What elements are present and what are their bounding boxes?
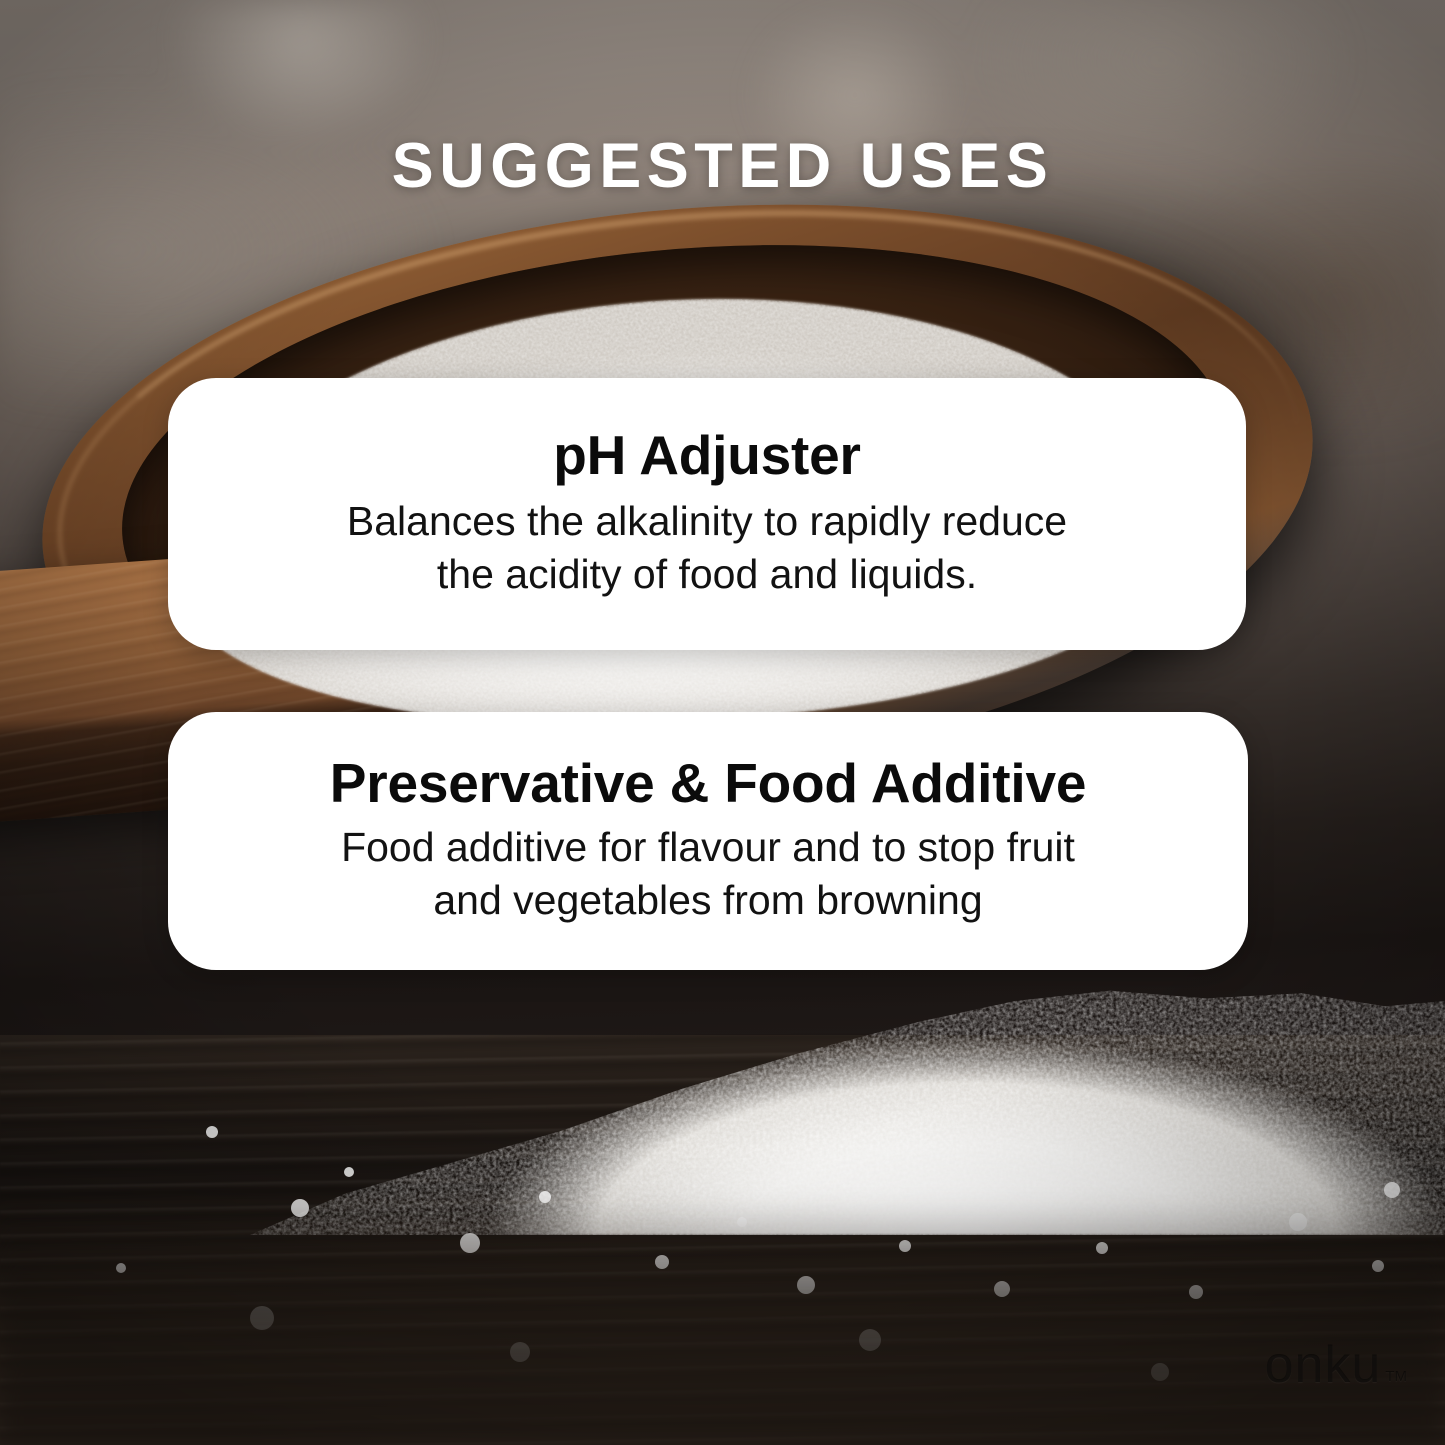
suggested-uses-graphic: SUGGESTED USES pH Adjuster Balances the … — [0, 0, 1445, 1445]
card-title-ph-adjuster: pH Adjuster — [553, 427, 860, 485]
brand-watermark: onku TM — [1265, 1335, 1407, 1395]
card-body-preservative-food-additive: Food additive for flavour and to stop fr… — [341, 821, 1075, 928]
brand-watermark-text: onku — [1265, 1335, 1382, 1395]
content-layer: SUGGESTED USES pH Adjuster Balances the … — [0, 0, 1445, 1445]
card-ph-adjuster: pH Adjuster Balances the alkalinity to r… — [168, 378, 1246, 650]
card-body-ph-adjuster: Balances the alkalinity to rapidly reduc… — [347, 495, 1067, 602]
trademark-symbol: TM — [1385, 1368, 1407, 1385]
card-preservative-food-additive: Preservative & Food Additive Food additi… — [168, 712, 1248, 970]
page-title: SUGGESTED USES — [0, 135, 1445, 198]
card-title-preservative-food-additive: Preservative & Food Additive — [330, 755, 1086, 813]
